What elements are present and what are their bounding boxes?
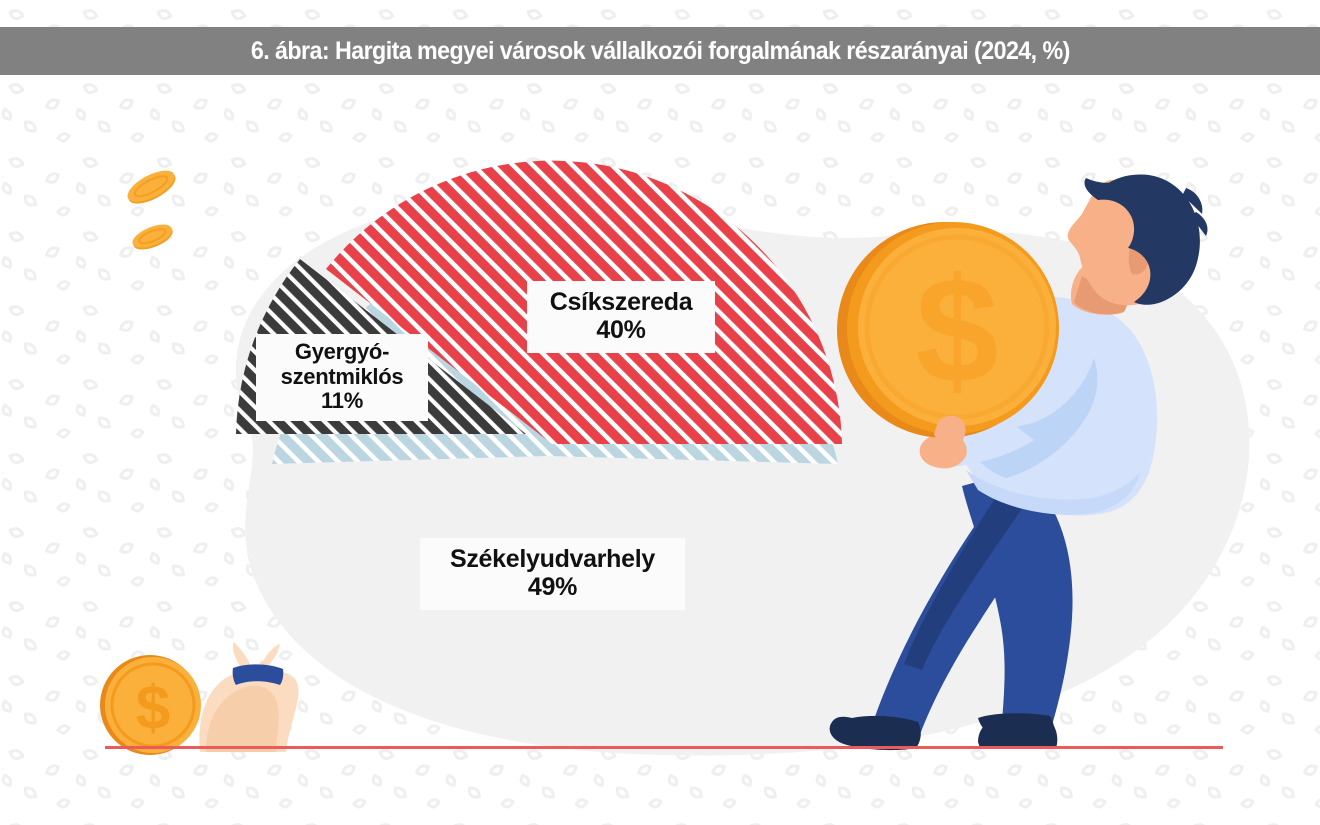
figure-title: 6. ábra: Hargita megyei városok vállalko… [251, 37, 1070, 66]
pie-label-gyergyoszentmiklos-name-1: Gyergyó- [262, 340, 422, 365]
ground-line [105, 746, 1223, 749]
pie-label-gyergyoszentmiklos: Gyergyó- szentmiklós 11% [256, 334, 428, 421]
pie-label-szekelyudvarhely-name: Székelyudvarhely [426, 545, 679, 573]
pie-label-csikszereda-name: Csíkszereda [533, 288, 709, 316]
pie-label-csikszereda: Csíkszereda 40% [527, 281, 715, 353]
pie-label-gyergyoszentmiklos-name-2: szentmiklós [262, 365, 422, 390]
figure-title-bar: 6. ábra: Hargita megyei városok vállalko… [0, 27, 1320, 75]
pie-label-szekelyudvarhely-value: 49% [426, 573, 679, 601]
infographic-canvas: $ [0, 0, 1320, 825]
character-front-shoe [830, 716, 921, 750]
character-back-shoe [978, 713, 1057, 748]
pie-label-gyergyoszentmiklos-value: 11% [262, 389, 422, 414]
character-illustration: $ [0, 0, 1320, 825]
pie-label-szekelyudvarhely: Székelyudvarhely 49% [420, 538, 685, 610]
pie-label-csikszereda-value: 40% [533, 316, 709, 344]
coin-dollar-symbol: $ [915, 246, 998, 414]
